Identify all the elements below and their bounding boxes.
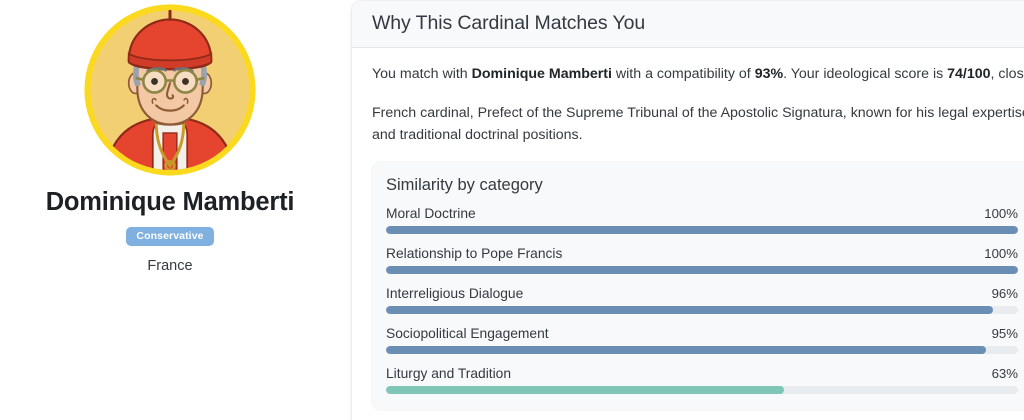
similarity-category-value: 96% (992, 286, 1018, 301)
similarity-category-label: Moral Doctrine (386, 206, 476, 221)
match-card-header: Why This Cardinal Matches You (352, 1, 1024, 48)
summary-cardinal-name: Dominique Mamberti (472, 66, 612, 82)
cardinal-portrait-icon (84, 4, 256, 176)
similarity-bar-fill (386, 226, 1018, 234)
summary-suffix: , close to this cardinal's score of 72/1… (991, 66, 1024, 82)
similarity-bar-track (386, 306, 1018, 314)
similarity-bar-track (386, 386, 1018, 394)
similarity-category-label: Relationship to Pope Francis (386, 246, 562, 261)
cardinal-bio-text: French cardinal, Prefect of the Supreme … (372, 102, 1024, 146)
similarity-bar-fill (386, 266, 1018, 274)
summary-prefix: You match with (372, 66, 472, 82)
similarity-category-value: 95% (992, 326, 1018, 341)
profile-name: Dominique Mamberti (46, 188, 295, 217)
similarity-category-row: Liturgy and Tradition63% (386, 366, 1018, 394)
similarity-category-value: 63% (992, 366, 1018, 381)
similarity-category-value: 100% (984, 246, 1018, 261)
cardinal-match-page: Dominique Mamberti Conservative France W… (0, 0, 1024, 420)
similarity-category-label: Interreligious Dialogue (386, 286, 523, 301)
summary-compatibility-value: 93% (755, 66, 783, 82)
similarity-category-row: Relationship to Pope Francis100% (386, 246, 1018, 274)
ideology-badge-wrapper: Conservative (126, 217, 213, 246)
summary-user-score-value: 74/100 (947, 66, 990, 82)
similarity-category-head: Sociopolitical Engagement95% (386, 326, 1018, 341)
summary-mid-2: . Your ideological score is (783, 66, 947, 82)
similarity-section-title: Similarity by category (386, 176, 1018, 195)
similarity-category-head: Interreligious Dialogue96% (386, 286, 1018, 301)
status-badge-ideology: Conservative (126, 227, 213, 246)
similarity-category-head: Relationship to Pope Francis100% (386, 246, 1018, 261)
similarity-category-head: Moral Doctrine100% (386, 206, 1018, 221)
similarity-category-label: Sociopolitical Engagement (386, 326, 549, 341)
page-title: Why This Cardinal Matches You (372, 12, 1024, 35)
similarity-category-value: 100% (984, 206, 1018, 221)
similarity-category-list: Moral Doctrine100%Relationship to Pope F… (386, 206, 1018, 394)
why-this-cardinal-matches-you-card: Why This Cardinal Matches You You match … (352, 1, 1024, 420)
similarity-bar-fill (386, 346, 986, 354)
similarity-bar-track (386, 266, 1018, 274)
similarity-category-row: Interreligious Dialogue96% (386, 286, 1018, 314)
similarity-category-row: Moral Doctrine100% (386, 206, 1018, 234)
similarity-bar-track (386, 346, 1018, 354)
similarity-bar-fill (386, 306, 993, 314)
match-summary-text: You match with Dominique Mamberti with a… (372, 63, 1024, 85)
similarity-category-row: Sociopolitical Engagement95% (386, 326, 1018, 354)
summary-mid-1: with a compatibility of (612, 66, 755, 82)
similarity-bar-track (386, 226, 1018, 234)
similarity-category-head: Liturgy and Tradition63% (386, 366, 1018, 381)
similarity-by-category-card: Similarity by category Moral Doctrine100… (372, 162, 1024, 410)
similarity-bar-fill (386, 386, 784, 394)
profile-panel: Dominique Mamberti Conservative France (0, 0, 340, 420)
match-card-body: You match with Dominique Mamberti with a… (352, 48, 1024, 410)
similarity-category-label: Liturgy and Tradition (386, 366, 511, 381)
profile-country: France (147, 258, 192, 274)
